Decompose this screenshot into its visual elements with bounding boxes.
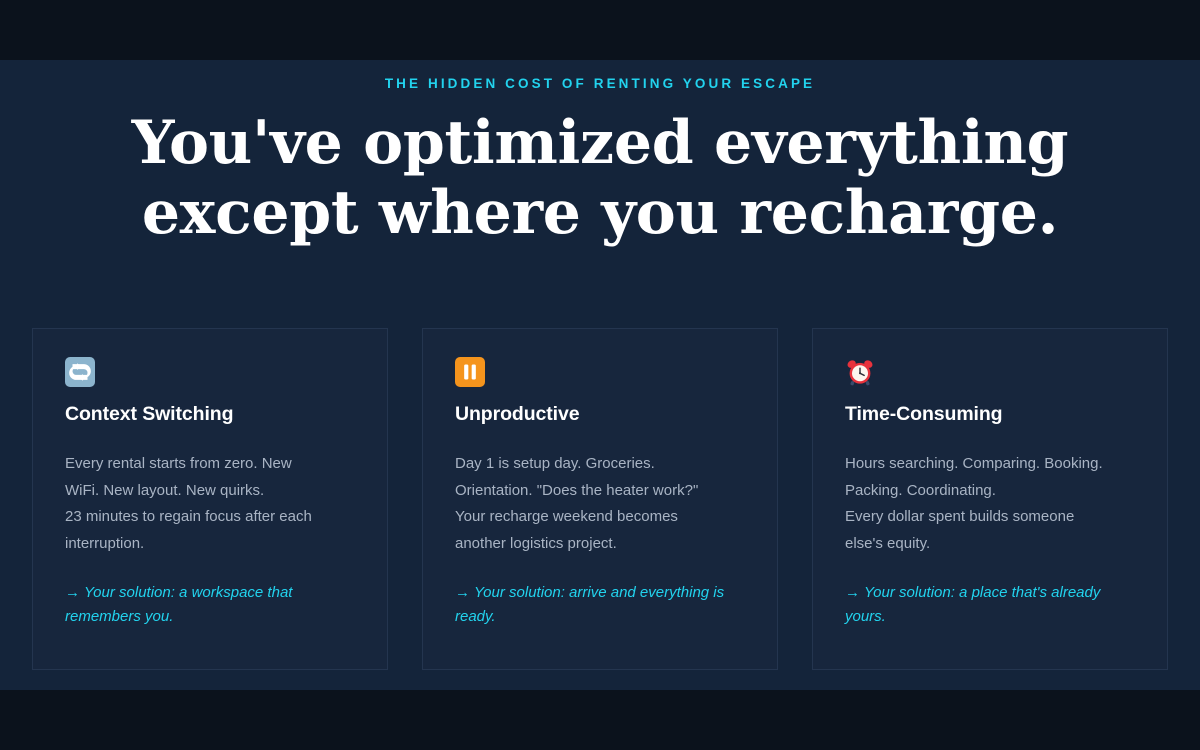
- bottom-band: [0, 690, 1200, 750]
- card-body-line: else's equity.: [845, 531, 1135, 558]
- card-title: Context Switching: [65, 403, 355, 426]
- card-body-line: Hours searching. Comparing. Booking.: [845, 451, 1135, 478]
- card-body: Day 1 is setup day. Groceries. Orientati…: [455, 451, 745, 557]
- pain-point-card-grid: Context Switching Every rental starts fr…: [32, 328, 1168, 670]
- pain-point-card: Time-Consuming Hours searching. Comparin…: [812, 328, 1168, 670]
- card-solution-text: Your solution: arrive and everything is …: [455, 584, 724, 625]
- card-body-line: 23 minutes to regain focus after each: [65, 504, 355, 531]
- arrow-right-icon: →: [455, 584, 470, 601]
- card-body: Hours searching. Comparing. Booking. Pac…: [845, 451, 1135, 557]
- pain-points-section: The Hidden Cost of Renting Your Escape Y…: [0, 60, 1200, 690]
- card-body-line: Your recharge weekend becomes: [455, 504, 745, 531]
- arrow-right-icon: →: [65, 584, 80, 601]
- card-body-line: Every dollar spent builds someone: [845, 504, 1135, 531]
- card-solution: →Your solution: a workspace that remembe…: [65, 581, 355, 628]
- arrow-right-icon: →: [845, 584, 860, 601]
- card-body: Every rental starts from zero. New WiFi.…: [65, 451, 355, 557]
- pause-button-icon: [455, 357, 485, 387]
- page-root: The Hidden Cost of Renting Your Escape Y…: [0, 0, 1200, 750]
- card-solution: →Your solution: a place that's already y…: [845, 581, 1135, 628]
- card-body-line: Orientation. "Does the heater work?": [455, 478, 745, 505]
- card-body-line: WiFi. New layout. New quirks.: [65, 478, 355, 505]
- card-body-line: interruption.: [65, 531, 355, 558]
- card-title: Time-Consuming: [845, 403, 1135, 426]
- card-body-line: Day 1 is setup day. Groceries.: [455, 451, 745, 478]
- arrows-counterclockwise-icon: [65, 357, 95, 387]
- headline-line-2: except where you recharge.: [100, 178, 1100, 248]
- section-eyebrow: The Hidden Cost of Renting Your Escape: [0, 76, 1200, 91]
- card-body-line: Every rental starts from zero. New: [65, 451, 355, 478]
- card-title: Unproductive: [455, 403, 745, 426]
- card-solution-text: Your solution: a place that's already yo…: [845, 584, 1100, 625]
- alarm-clock-icon: [845, 357, 875, 387]
- card-body-line: Packing. Coordinating.: [845, 478, 1135, 505]
- pain-point-card: Unproductive Day 1 is setup day. Groceri…: [422, 328, 778, 670]
- top-band: [0, 0, 1200, 60]
- page-title: You've optimized everything except where…: [100, 108, 1100, 248]
- pain-point-card: Context Switching Every rental starts fr…: [32, 328, 388, 670]
- card-body-line: another logistics project.: [455, 531, 745, 558]
- card-solution: →Your solution: arrive and everything is…: [455, 581, 745, 628]
- card-solution-text: Your solution: a workspace that remember…: [65, 584, 292, 625]
- headline-line-1: You've optimized everything: [100, 108, 1100, 178]
